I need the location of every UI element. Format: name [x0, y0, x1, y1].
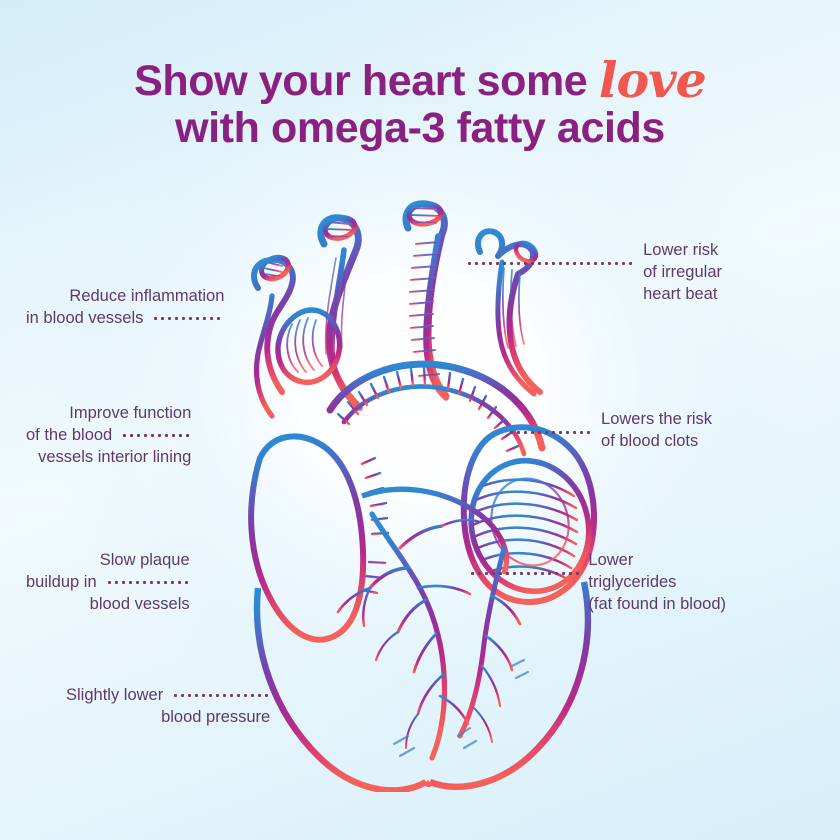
- leader-line-dotted: [121, 434, 191, 437]
- page-title: Show your heart some love with omega-3 f…: [0, 52, 840, 151]
- leader-line-dotted: [152, 317, 224, 320]
- callout-lower-triglycerides: Lower triglycerides (fat found in blood): [588, 550, 726, 616]
- title-line-1: Show your heart some love: [0, 52, 840, 105]
- callout-line: Improve function: [26, 403, 191, 425]
- title-text-primary: Show your heart some: [134, 57, 599, 105]
- callout-line-with-leader: of the blood: [26, 425, 191, 447]
- anatomical-heart-illustration: [212, 196, 632, 792]
- callout-line: buildup in: [26, 572, 97, 594]
- callout-text: Reduce inflammation in blood vessels: [26, 286, 224, 330]
- callout-reduce-inflammation: Reduce inflammation in blood vessels: [26, 286, 224, 330]
- callout-text: Lower risk of irregular heart beat: [643, 240, 722, 306]
- callout-text: Lower triglycerides (fat found in blood): [588, 550, 726, 616]
- callout-text: Improve function of the blood vessels in…: [26, 403, 191, 469]
- callout-line: vessels interior lining: [26, 447, 191, 469]
- callout-lower-arrhythmia-risk: Lower risk of irregular heart beat: [643, 240, 722, 306]
- callout-slow-plaque-buildup: Slow plaque buildup in blood vessels: [26, 550, 190, 616]
- callout-line: Lower risk: [643, 240, 722, 262]
- callout-line: Slightly lower: [66, 685, 163, 707]
- callout-line: Reduce inflammation: [26, 286, 224, 308]
- callout-improve-endothelial-function: Improve function of the blood vessels in…: [26, 403, 191, 469]
- title-text-script-love: love: [599, 51, 706, 109]
- callout-line: triglycerides: [588, 572, 726, 594]
- leader-line-dotted: [466, 262, 634, 265]
- callout-line-with-leader: buildup in: [26, 572, 190, 594]
- callout-line: Lower: [588, 550, 726, 572]
- callout-lower-blood-pressure: Slightly lower blood pressure: [66, 685, 270, 729]
- callout-line: (fat found in blood): [588, 594, 726, 616]
- callout-line: Lowers the risk: [601, 409, 712, 431]
- leader-line-dotted: [106, 581, 190, 584]
- callout-line: blood vessels: [26, 594, 190, 616]
- callout-text: Slow plaque buildup in blood vessels: [26, 550, 190, 616]
- callout-line: heart beat: [643, 284, 722, 306]
- leader-line-dotted: [508, 431, 592, 434]
- leader-line-dotted: [469, 572, 579, 575]
- callout-line: blood pressure: [66, 707, 270, 729]
- callout-text: Lowers the risk of blood clots: [601, 409, 712, 453]
- callout-line: in blood vessels: [26, 308, 143, 330]
- callout-line: of irregular: [643, 262, 722, 284]
- callout-text: Slightly lower blood pressure: [66, 685, 270, 729]
- callout-line-with-leader: Slightly lower: [66, 685, 270, 707]
- callout-lower-clot-risk: Lowers the risk of blood clots: [601, 409, 712, 453]
- title-line-2: with omega-3 fatty acids: [0, 105, 840, 151]
- leader-line-dotted: [172, 694, 270, 697]
- callout-line: of blood clots: [601, 431, 712, 453]
- infographic-poster: Show your heart some love with omega-3 f…: [0, 0, 840, 840]
- callout-line-with-leader: in blood vessels: [26, 308, 224, 330]
- callout-line: of the blood: [26, 425, 112, 447]
- callout-line: Slow plaque: [26, 550, 190, 572]
